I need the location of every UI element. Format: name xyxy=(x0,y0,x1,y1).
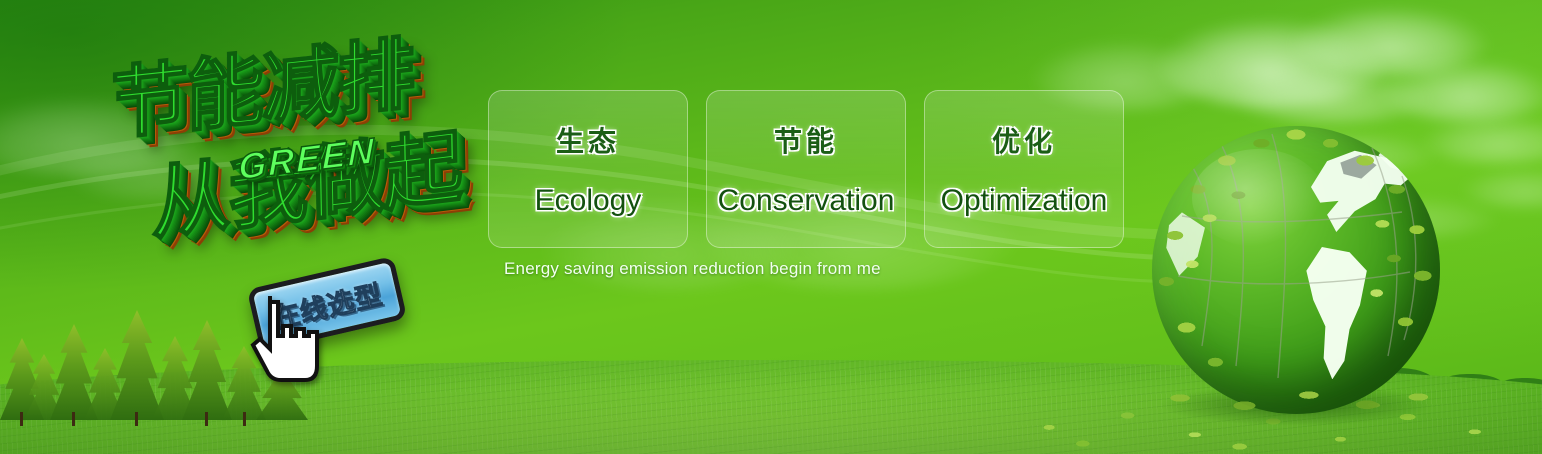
feature-card-conservation[interactable]: 节能 Conservation xyxy=(706,90,906,248)
feature-card-en-label: Ecology xyxy=(535,184,642,218)
globe-sphere xyxy=(1152,126,1440,414)
headline-line-top: 节能减排 xyxy=(111,34,413,144)
headline-artwork: 节能减排 GREEN 从我做起 xyxy=(96,42,486,262)
cloud-icon xyxy=(1460,168,1542,208)
banner-tagline: Energy saving emission reduction begin f… xyxy=(504,259,881,279)
tree-trunk xyxy=(205,412,208,426)
feature-card-cn-label: 生态 xyxy=(556,120,620,160)
feature-card-optimization[interactable]: 优化 Optimization xyxy=(924,90,1124,248)
cloud-icon xyxy=(1380,60,1542,122)
feature-card-cn-label: 优化 xyxy=(992,120,1056,160)
cloud-icon xyxy=(1232,68,1432,124)
feature-card-en-label: Optimization xyxy=(941,184,1108,218)
tree-trunk xyxy=(243,412,246,426)
feature-card-ecology[interactable]: 生态 Ecology xyxy=(488,90,688,248)
tree-trunk xyxy=(20,412,23,426)
globe-highlight xyxy=(1192,149,1324,247)
feature-card-en-label: Conservation xyxy=(718,184,895,218)
conifer-tree-icon xyxy=(110,310,164,420)
conifer-tree-icon xyxy=(182,320,232,420)
leafy-globe-icon xyxy=(1152,126,1440,414)
cloud-icon xyxy=(1290,6,1490,76)
green-energy-banner: 节能减排 GREEN 从我做起 在线选型 生态 Ecology 节能 Conse… xyxy=(0,0,1542,454)
feature-card-list: 生态 Ecology 节能 Conservation 优化 Optimizati… xyxy=(488,90,1124,248)
globe-base-leaves xyxy=(1135,374,1458,422)
cloud-icon xyxy=(1155,18,1385,108)
tree-trunk xyxy=(72,412,75,426)
feature-card-cn-label: 节能 xyxy=(774,120,838,160)
hand-pointer-icon xyxy=(240,296,322,392)
tree-trunk xyxy=(135,412,138,426)
